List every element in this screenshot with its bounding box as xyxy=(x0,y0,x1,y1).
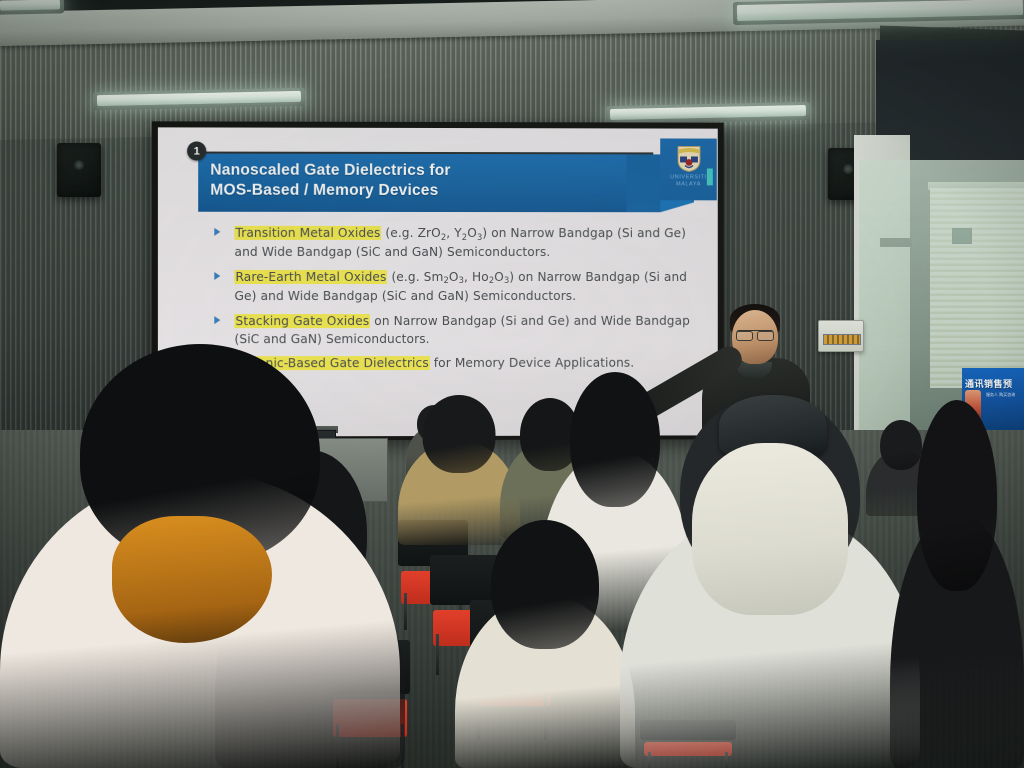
electrical-panel-box[interactable] xyxy=(818,320,864,352)
university-crest-icon xyxy=(676,144,702,172)
bullet-highlight: Rare-Earth Metal Oxides xyxy=(234,270,387,284)
lecture-hall-scene: 通讯销售预 服务人 购买咨询 1 Nanoscaled Gate Dielect… xyxy=(0,0,1024,768)
chair-leg xyxy=(436,634,439,675)
slide-bullet: Rare-Earth Metal Oxides (e.g. Sm2O3, Ho2… xyxy=(204,268,694,306)
slide-title-line2: MOS-Based / Memory Devices xyxy=(210,181,450,201)
speaker-cone-icon xyxy=(74,160,84,170)
audience-cap-hoodie xyxy=(620,395,920,768)
bullet-triangle-icon xyxy=(214,316,220,324)
bullet-triangle-icon xyxy=(214,272,220,280)
speaker-cone-icon xyxy=(843,164,853,174)
slide-title: Nanoscaled Gate Dielectrics for MOS-Base… xyxy=(210,161,450,201)
slide-title-line1: Nanoscaled Gate Dielectrics for xyxy=(210,161,450,181)
logo-accent-tab xyxy=(707,168,713,185)
bullet-highlight: Stacking Gate Oxides xyxy=(234,314,370,328)
slide-title-bar: Nanoscaled Gate Dielectrics for MOS-Base… xyxy=(198,154,628,213)
head xyxy=(423,395,496,473)
university-logo: UNIVERSITI MALAYA xyxy=(660,138,717,200)
hood-icon xyxy=(692,443,848,615)
panel-switch-strip[interactable] xyxy=(823,334,861,345)
head xyxy=(491,520,599,649)
audience-front-left-ponytail xyxy=(0,344,400,768)
poster-headline: 通讯销售预 xyxy=(965,377,1021,390)
slide-number-badge: 1 xyxy=(187,141,206,160)
ceiling-tube-upper-left xyxy=(0,0,60,11)
slide-bullet: Transition Metal Oxides (e.g. ZrO2, Y2O3… xyxy=(204,224,694,262)
audience-right-curly xyxy=(890,400,1024,768)
glasses-icon xyxy=(736,330,774,340)
university-name-line1: UNIVERSITI xyxy=(670,174,707,180)
university-name-line2: MALAYA xyxy=(676,181,701,187)
audience-cream-jacket xyxy=(455,520,635,768)
bullet-highlight: Transition Metal Oxides xyxy=(234,226,381,240)
head xyxy=(917,400,997,591)
bullet-rest: for Memory Device Applications. xyxy=(430,356,634,370)
poster-subtext: 服务人 购买咨询 xyxy=(986,392,1015,397)
bullet-triangle-icon xyxy=(214,228,220,236)
speaker-left xyxy=(57,143,101,197)
